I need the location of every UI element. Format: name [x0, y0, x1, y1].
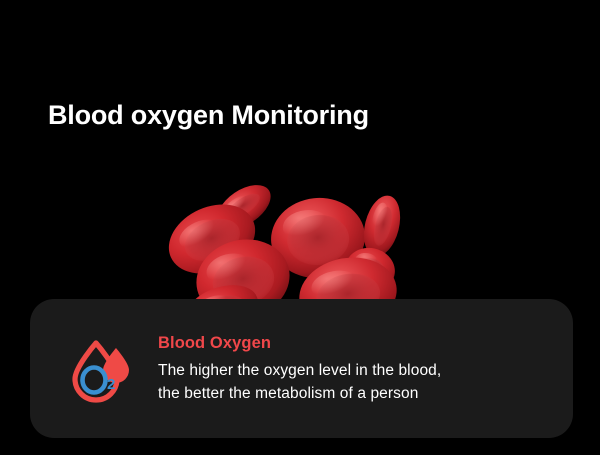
- blood-oxygen-info-card: 2 Blood Oxygen The higher the oxygen lev…: [30, 299, 573, 438]
- card-body-line-1: The higher the oxygen level in the blood…: [158, 360, 441, 382]
- page-title: Blood oxygen Monitoring: [48, 100, 369, 131]
- o2-subscript: 2: [107, 376, 115, 393]
- card-text-block: Blood Oxygen The higher the oxygen level…: [158, 334, 441, 405]
- o-ring: [83, 367, 106, 392]
- promo-screen: Blood oxygen Monitoring 2 Blood Oxygen T…: [0, 0, 600, 455]
- card-heading: Blood Oxygen: [158, 334, 441, 353]
- card-body-line-2: the better the metabolism of a person: [158, 383, 441, 405]
- blood-drop-o2-icon: 2: [70, 338, 132, 404]
